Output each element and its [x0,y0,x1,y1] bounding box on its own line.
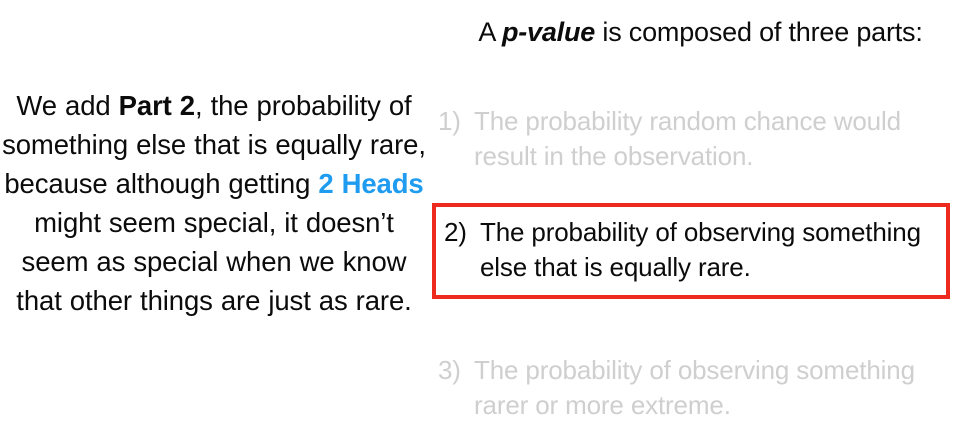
explanation-paragraph: We add Part 2, the probability of someth… [0,86,428,320]
explanation-emphasis-2-heads: 2 Heads [318,168,423,199]
part-item-3-marker: 3) [430,353,474,388]
part-item-2-marker: 2) [436,215,480,250]
part-item-1-text: The probability random chance would resu… [474,104,971,174]
explanation-emphasis-part-2: Part 2 [119,90,195,121]
part-item-2[interactable]: 2) The probability of observing somethin… [432,203,950,299]
explanation-pane: We add Part 2, the probability of someth… [0,86,428,320]
explanation-segment-3: might seem special, it doesn’t seem as s… [16,207,411,316]
part-item-1[interactable]: 1) The probability random chance would r… [430,104,971,174]
parts-title: A p-value is composed of three parts: [430,14,971,51]
slide-canvas: We add Part 2, the probability of someth… [0,0,971,434]
parts-title-term: p-value [502,17,595,47]
part-item-3-text: The probability of observing something r… [474,353,971,423]
p-value-parts-pane: A p-value is composed of three parts: 1)… [430,0,971,434]
part-item-1-marker: 1) [430,104,474,139]
parts-title-lead: A [478,17,502,47]
explanation-segment-1: We add [16,90,118,121]
part-item-3[interactable]: 3) The probability of observing somethin… [430,353,971,423]
part-item-2-text: The probability of observing something e… [480,215,946,285]
parts-title-tail: is composed of three parts: [595,17,923,47]
